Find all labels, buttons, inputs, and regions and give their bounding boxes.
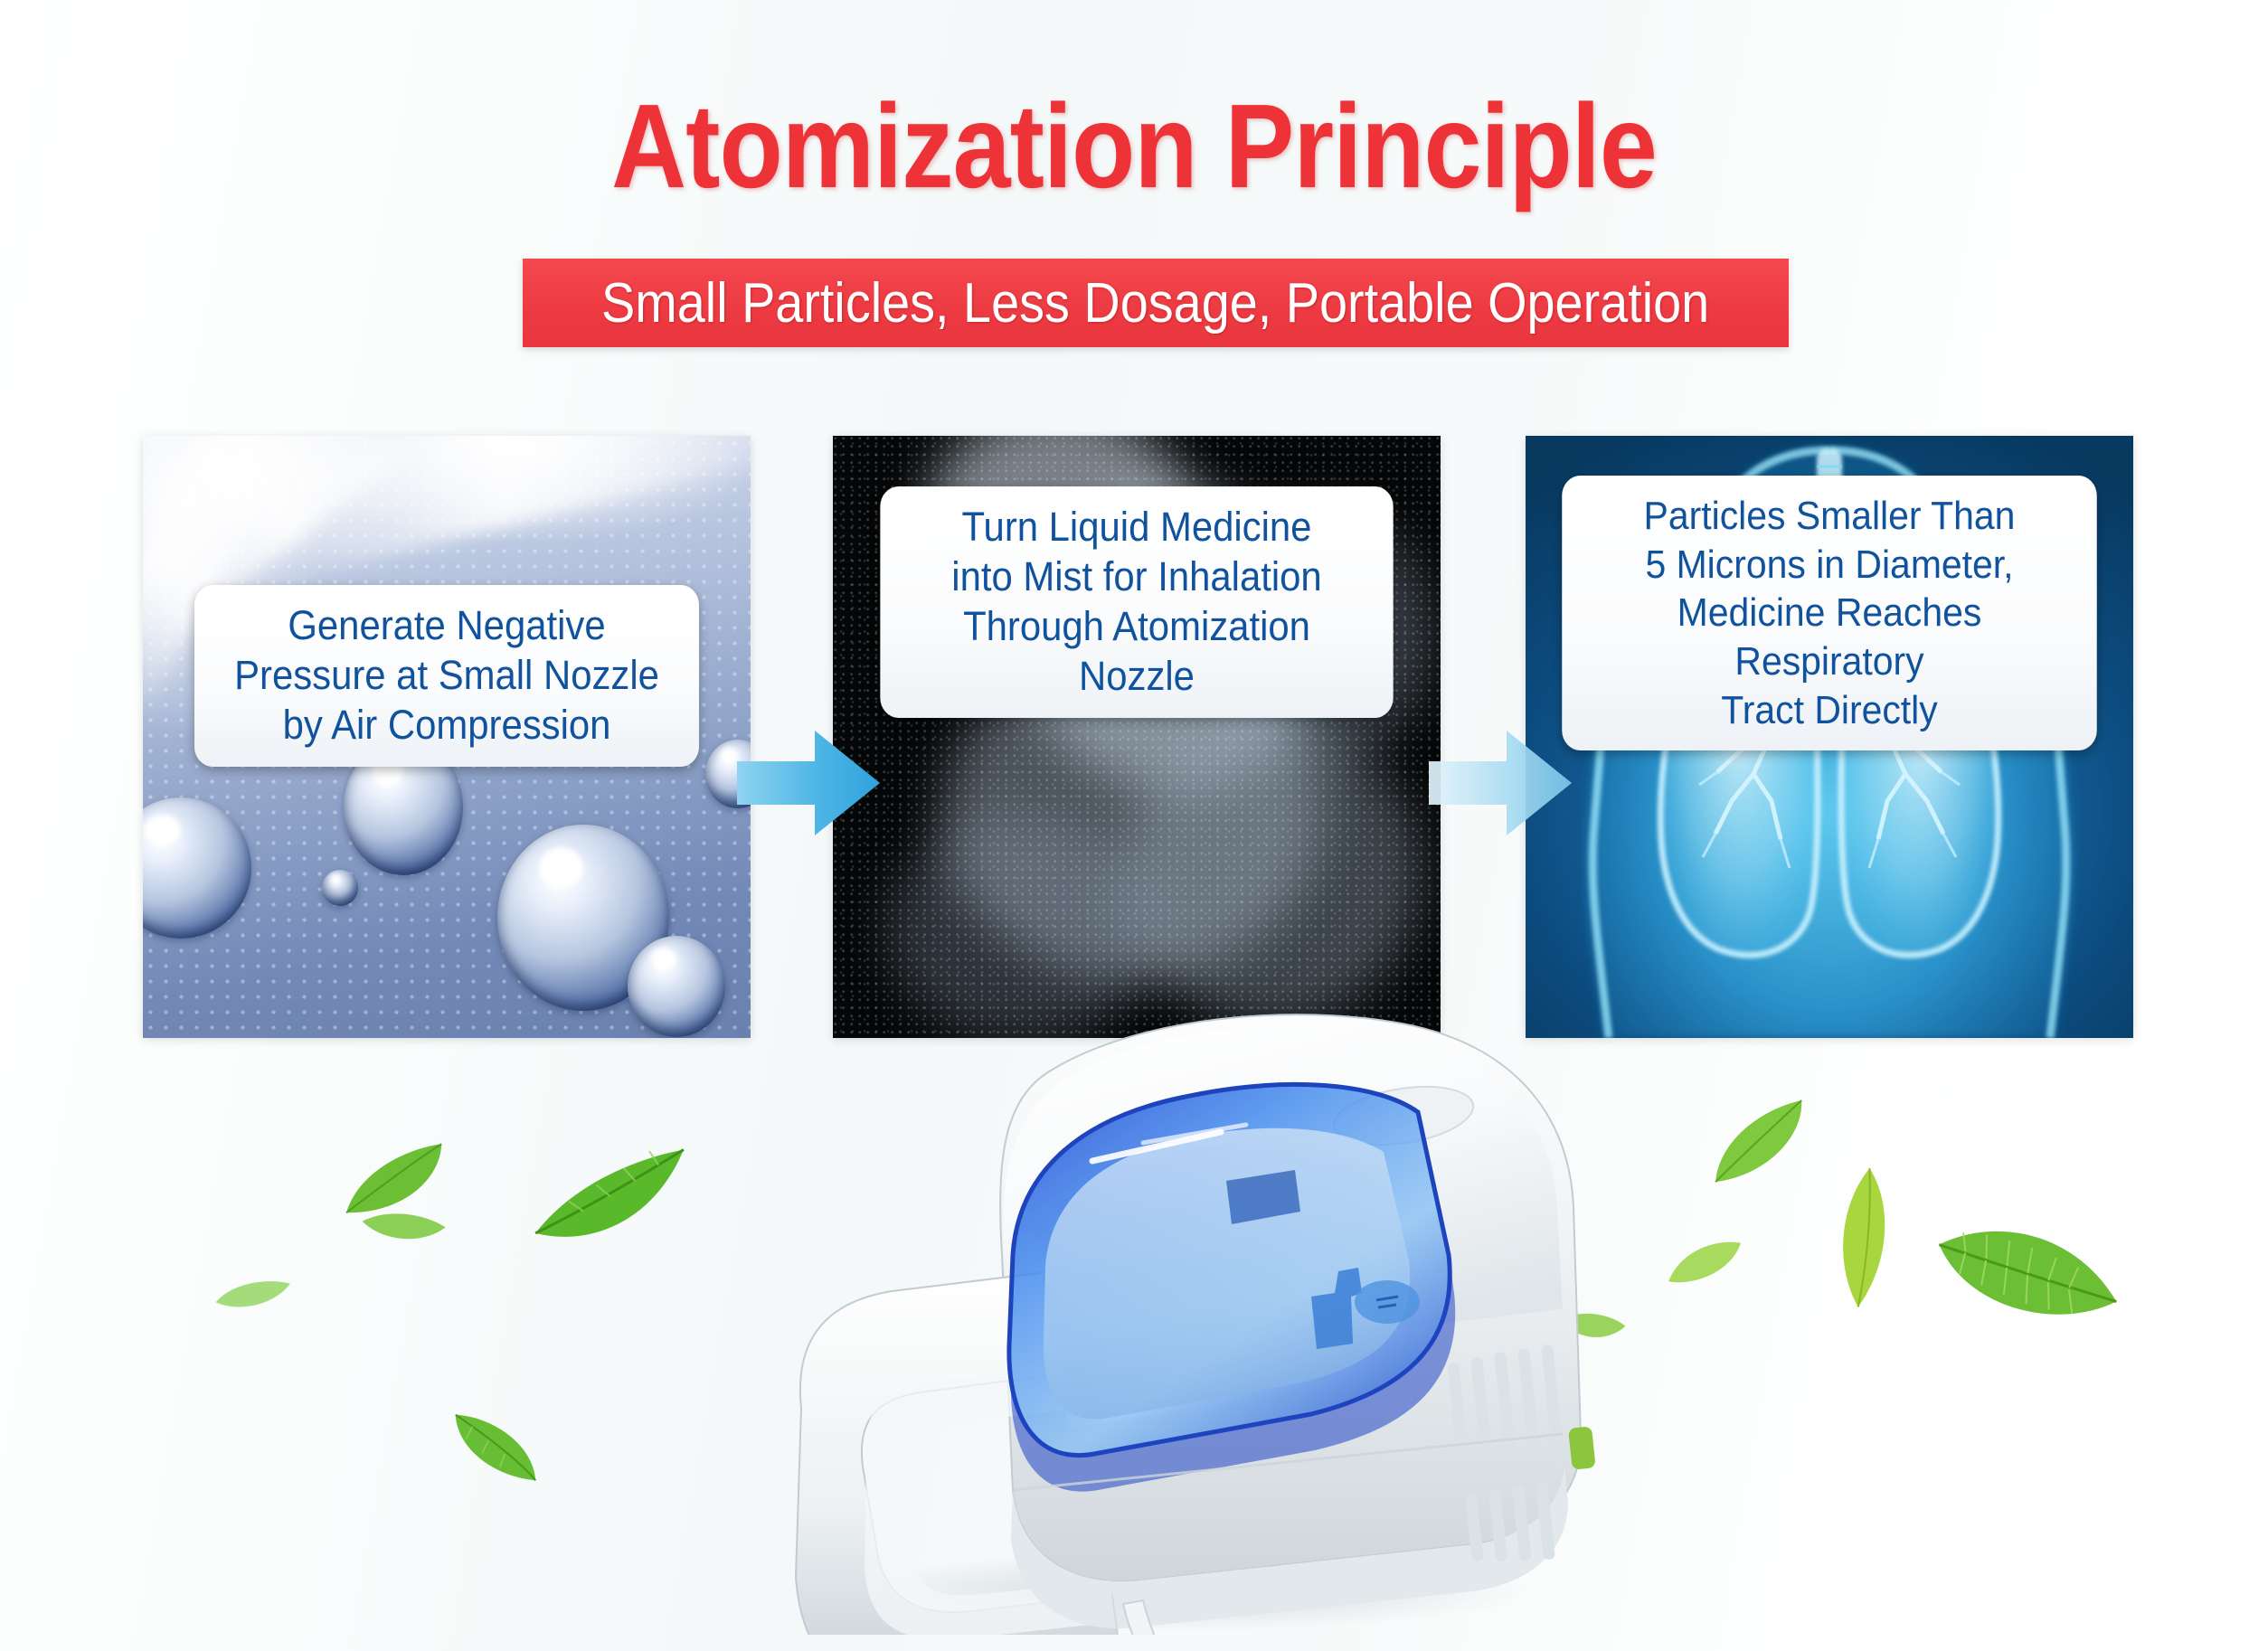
floating-green-leaf bbox=[1664, 1241, 1745, 1288]
step-3-caption: Particles Smaller Than 5 Microns in Diam… bbox=[1562, 476, 2096, 750]
step-1-caption: Generate Negative Pressure at Small Nozz… bbox=[194, 585, 699, 767]
floating-green-leaf bbox=[443, 1420, 548, 1480]
arrow-step1-to-step2 bbox=[737, 723, 882, 843]
infographic-canvas: Atomization Principle Small Particles, L… bbox=[0, 0, 2268, 1651]
floating-green-leaf bbox=[1700, 1110, 1818, 1178]
power-indicator bbox=[1568, 1426, 1596, 1469]
step-panel-3: Particles Smaller Than 5 Microns in Diam… bbox=[1526, 436, 2133, 1038]
floating-green-leaf bbox=[1827, 1166, 1904, 1316]
step-panel-1: Generate Negative Pressure at Small Nozz… bbox=[143, 436, 751, 1038]
floating-green-leaf bbox=[213, 1277, 293, 1317]
water-droplet bbox=[628, 936, 725, 1037]
water-droplet bbox=[322, 870, 358, 906]
floating-green-leaf bbox=[1930, 1221, 2125, 1334]
floating-green-leaf bbox=[543, 1124, 678, 1264]
subtitle-text: Small Particles, Less Dosage, Portable O… bbox=[601, 271, 1709, 335]
nozzle-cap bbox=[1355, 1280, 1420, 1324]
floating-green-leaf bbox=[360, 1208, 447, 1252]
compressor-nebulizer bbox=[714, 984, 1637, 1635]
arrow-step2-to-step3 bbox=[1429, 723, 1573, 843]
page-title: Atomization Principle bbox=[147, 87, 2121, 206]
subtitle-banner: Small Particles, Less Dosage, Portable O… bbox=[523, 259, 1789, 347]
step-panel-2: Turn Liquid Medicine into Mist for Inhal… bbox=[833, 436, 1441, 1038]
step-2-caption: Turn Liquid Medicine into Mist for Inhal… bbox=[880, 486, 1393, 718]
